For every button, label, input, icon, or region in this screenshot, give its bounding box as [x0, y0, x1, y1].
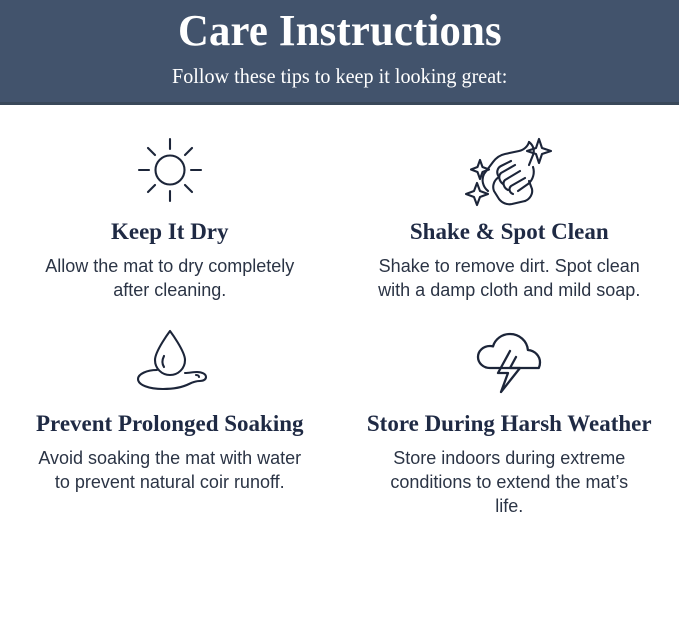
tip-title: Shake & Spot Clean	[410, 219, 609, 246]
tip-card-prevent-prolonged-soaking: Prevent Prolonged Soaking Avoid soaking …	[0, 303, 340, 519]
tip-title: Prevent Prolonged Soaking	[36, 411, 304, 438]
washing-hands-sparkle-icon	[464, 133, 554, 207]
tip-body: Avoid soaking the mat with water to prev…	[38, 447, 302, 495]
tip-title: Keep It Dry	[111, 219, 229, 246]
tip-body: Shake to remove dirt. Spot clean with a …	[377, 255, 641, 303]
tip-card-keep-it-dry: Keep It Dry Allow the mat to dry complet…	[0, 105, 340, 303]
sun-icon	[125, 133, 215, 207]
tip-card-store-during-harsh-weather: Store During Harsh Weather Store indoors…	[340, 303, 679, 519]
water-droplet-puddle-icon	[125, 325, 215, 399]
page-subtitle: Follow these tips to keep it looking gre…	[172, 66, 507, 87]
tip-body: Store indoors during extreme conditions …	[377, 447, 641, 519]
care-instructions-infographic: Care Instructions Follow these tips to k…	[0, 0, 679, 628]
storm-cloud-lightning-icon	[464, 325, 554, 399]
tips-grid: Keep It Dry Allow the mat to dry complet…	[0, 105, 679, 519]
tip-body: Allow the mat to dry completely after cl…	[45, 255, 295, 303]
header-banner: Care Instructions Follow these tips to k…	[0, 0, 679, 105]
tip-card-shake-and-spot-clean: Shake & Spot Clean Shake to remove dirt.…	[340, 105, 679, 303]
page-title: Care Instructions	[178, 9, 502, 53]
tip-title: Store During Harsh Weather	[367, 411, 652, 438]
